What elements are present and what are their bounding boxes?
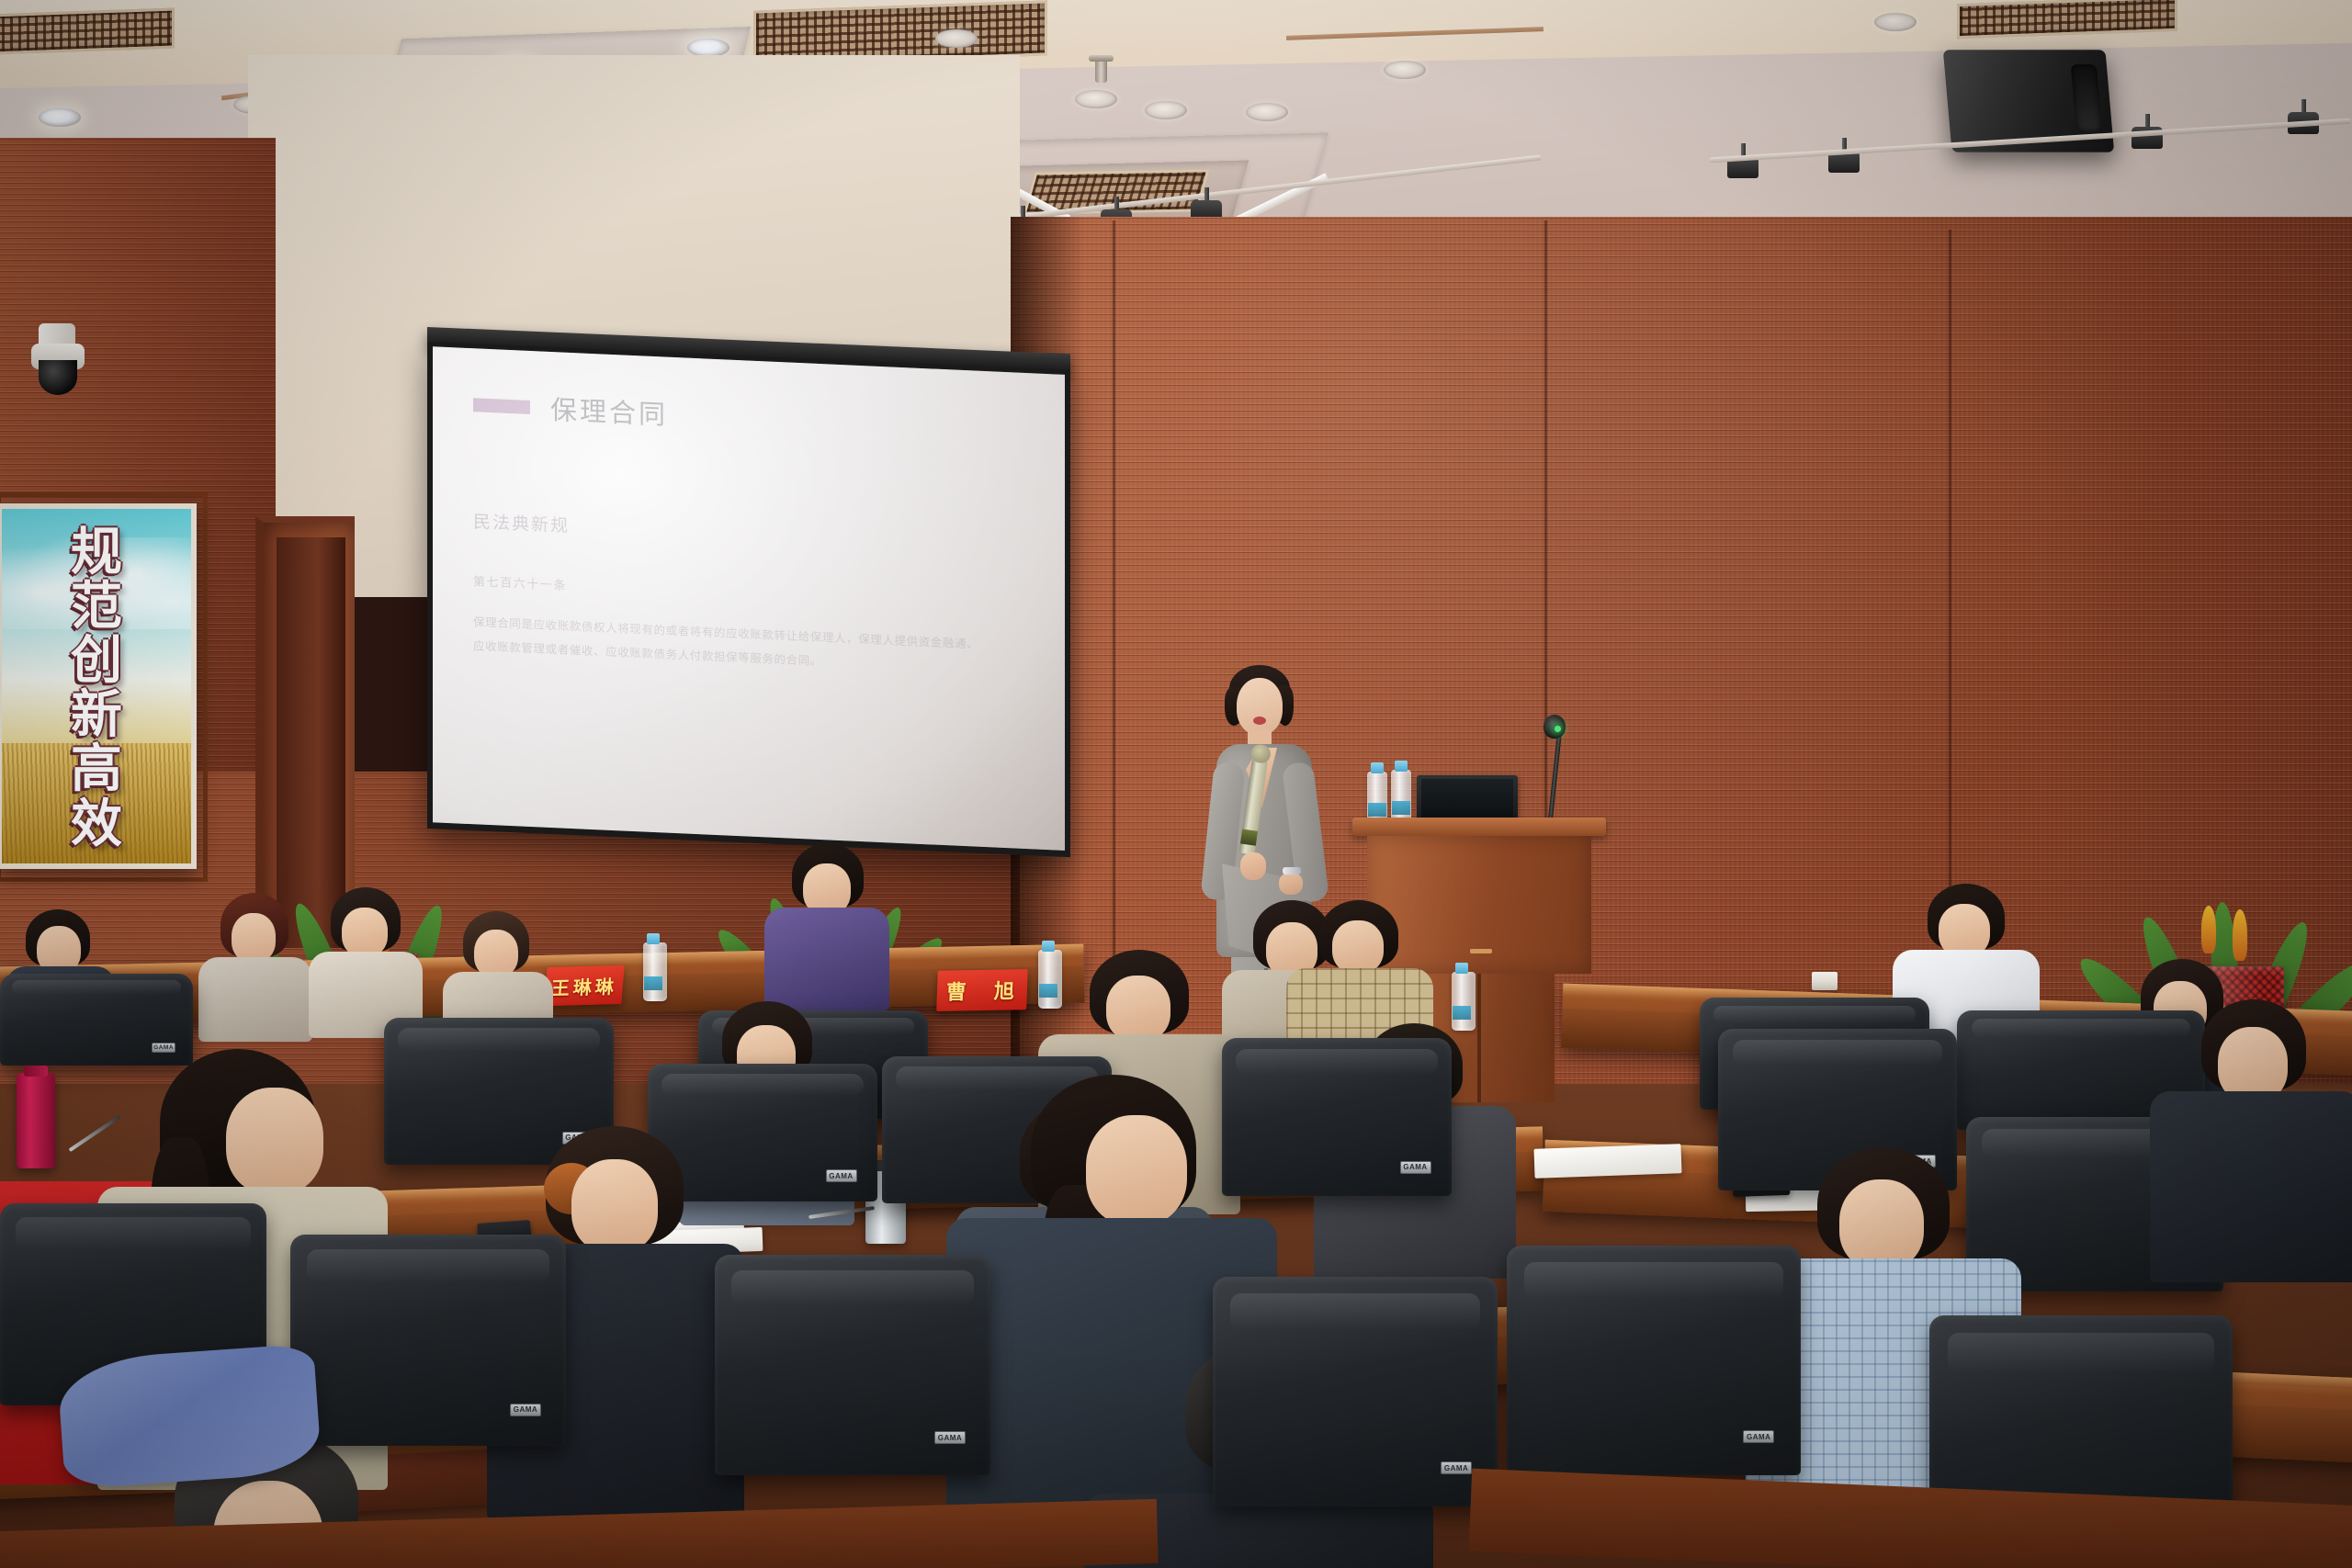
ceiling-downlight bbox=[935, 29, 978, 48]
audience-member bbox=[309, 887, 423, 1034]
presenter-head bbox=[1237, 678, 1283, 735]
open-notebook[interactable] bbox=[1533, 1144, 1681, 1179]
person-head bbox=[1086, 1115, 1187, 1225]
plant-bloom bbox=[2201, 906, 2216, 953]
wall-poster-banner: 规 范 创 新 高 效 bbox=[0, 503, 197, 869]
person-torso bbox=[198, 957, 312, 1042]
person-torso bbox=[764, 908, 889, 1010]
chair-brand-badge: GAMA bbox=[826, 1169, 857, 1182]
wall-outlet-plate bbox=[1812, 972, 1837, 990]
slide-title-row: 保理合同 bbox=[473, 385, 1024, 448]
chair-brand-badge: GAMA bbox=[1400, 1161, 1431, 1174]
presenter-hand-right bbox=[1279, 873, 1303, 895]
person-head bbox=[342, 908, 388, 957]
name-plate: 曹 旭 bbox=[936, 969, 1028, 1011]
ceiling-downlight bbox=[1075, 90, 1117, 108]
chair-brand-badge: GAMA bbox=[1743, 1430, 1774, 1443]
ptz-dome-camera bbox=[26, 323, 90, 395]
camera-lens-dome bbox=[39, 360, 77, 395]
person-head bbox=[1839, 1179, 1924, 1269]
water-bottle[interactable] bbox=[1452, 972, 1476, 1031]
person-head bbox=[226, 1088, 323, 1194]
person-head bbox=[571, 1159, 658, 1253]
slide-article-number: 第七百六十一条 bbox=[473, 571, 1024, 614]
poster-slogan: 规 范 创 新 高 效 bbox=[71, 525, 122, 850]
audience-member bbox=[764, 843, 889, 1005]
lectern-top bbox=[1352, 818, 1606, 836]
presenter-mouth bbox=[1253, 716, 1266, 725]
mic-gooseneck bbox=[1548, 729, 1562, 821]
person-head bbox=[1106, 976, 1170, 1042]
slide-subtitle: 民法典新规 bbox=[473, 508, 1024, 558]
chair-brand-badge: GAMA bbox=[510, 1404, 541, 1416]
chair-brand-badge: GAMA bbox=[934, 1431, 966, 1444]
chair[interactable]: GAMA bbox=[715, 1255, 990, 1475]
projection-screen: 保理合同 民法典新规 第七百六十一条 保理合同是应收账款债权人将现有的或者将有的… bbox=[427, 342, 1070, 857]
ceiling-downlight bbox=[687, 39, 729, 57]
plant-bloom bbox=[2233, 909, 2247, 961]
slide-title: 保理合同 bbox=[550, 389, 668, 433]
podium-microphone[interactable] bbox=[1532, 715, 1575, 821]
poster-char-4: 新 bbox=[71, 688, 122, 740]
ceiling-downlight bbox=[1874, 13, 1917, 31]
water-bottle[interactable] bbox=[643, 942, 667, 1001]
ceiling-downlight bbox=[1145, 101, 1187, 119]
conference-hall-scene: 规 范 创 新 高 效 保理合同 民法典新规 第七百六十一条 保理合同是应收账款… bbox=[0, 0, 2352, 1568]
person-head bbox=[1332, 920, 1384, 974]
screen-surface: 保理合同 民法典新规 第七百六十一条 保理合同是应收账款债权人将现有的或者将有的… bbox=[433, 346, 1065, 851]
chair[interactable]: GAMA bbox=[1507, 1246, 1801, 1475]
presenter-hand-left bbox=[1240, 852, 1266, 880]
person-head bbox=[474, 930, 518, 977]
chair[interactable]: GAMA bbox=[290, 1235, 566, 1446]
poster-char-1: 规 bbox=[71, 525, 122, 578]
ceiling-downlight bbox=[1384, 61, 1426, 79]
chair[interactable]: GAMA bbox=[1213, 1277, 1498, 1506]
slide-body-text: 保理合同是应收账款债权人将现有的或者将有的应收账款转让给保理人，保理人提供资金融… bbox=[473, 611, 988, 681]
water-bottle[interactable] bbox=[1391, 770, 1411, 823]
chair-brand-badge: GAMA bbox=[1441, 1461, 1472, 1474]
slide-accent-bar bbox=[473, 398, 530, 414]
hvac-grille bbox=[0, 8, 175, 55]
person-head bbox=[232, 913, 276, 963]
poster-char-3: 创 bbox=[71, 634, 122, 686]
sprinkler-head bbox=[1095, 59, 1107, 83]
audience-member bbox=[2150, 999, 2352, 1275]
poster-char-2: 范 bbox=[71, 580, 122, 632]
ceiling-downlight bbox=[39, 108, 81, 127]
audience-member bbox=[197, 893, 312, 1040]
poster-char-5: 高 bbox=[71, 742, 122, 795]
person-torso bbox=[2150, 1091, 2352, 1282]
name-plate: 王琳琳 bbox=[544, 965, 624, 1006]
ceiling-downlight bbox=[1246, 103, 1288, 121]
presenter-wristwatch bbox=[1283, 867, 1301, 874]
presentation-slide: 保理合同 民法典新规 第七百六十一条 保理合同是应收账款债权人将现有的或者将有的… bbox=[433, 346, 1065, 851]
laptop[interactable] bbox=[1417, 775, 1518, 821]
mic-status-led bbox=[1555, 726, 1561, 732]
poster-char-6: 效 bbox=[71, 797, 122, 850]
